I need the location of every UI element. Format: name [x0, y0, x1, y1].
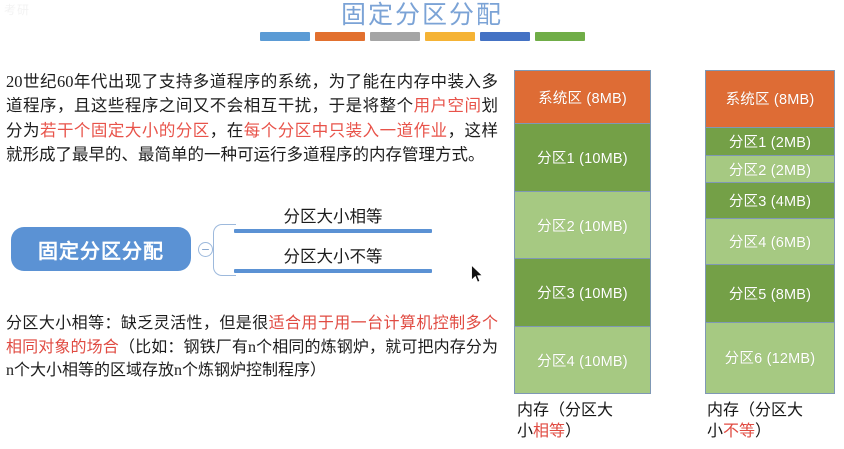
caption-post: ） — [565, 423, 581, 440]
memory-block: 系统区 (8MB) — [706, 71, 834, 128]
caption-pre: 内存（分区大 — [707, 402, 803, 419]
memory-block: 分区3 (4MB) — [706, 183, 834, 219]
intro-highlight-2: 若干个固定大小的分区 — [40, 121, 210, 140]
memory-block: 分区1 (10MB) — [515, 124, 650, 192]
intro-paragraph: 20世纪60年代出现了支持多道程序的系统，为了能在内存中装入多道程序，且这些程序… — [6, 70, 498, 168]
title-decoration-bars — [0, 32, 844, 41]
slide-canvas: 考研 固定分区分配 20世纪60年代出现了支持多道程序的系统，为了能在内存中装入… — [0, 0, 844, 449]
memory-block: 分区4 (10MB) — [515, 327, 650, 393]
mindmap-branch-unequal[interactable]: 分区大小不等 — [234, 246, 432, 273]
title-bar-6 — [535, 32, 585, 41]
minus-circle-icon[interactable] — [198, 242, 213, 257]
mouse-pointer-icon — [470, 264, 484, 284]
memory-caption-equal: 内存（分区大小相等） — [517, 400, 622, 442]
memory-block: 分区4 (6MB) — [706, 219, 834, 265]
mindmap-branch-equal[interactable]: 分区大小相等 — [234, 206, 432, 233]
memory-block: 分区6 (12MB) — [706, 323, 834, 393]
memory-caption-unequal: 内存（分区大小不等） — [707, 400, 812, 442]
page-title: 固定分区分配 — [0, 2, 844, 30]
memory-block: 分区2 (2MB) — [706, 156, 834, 183]
expl-seg-1: 分区大小相等：缺乏灵活性，但是很 — [6, 315, 269, 332]
mindmap-root-node[interactable]: 固定分区分配 — [12, 228, 190, 270]
title-bar-1 — [260, 32, 310, 41]
mindmap-branch-underline — [234, 269, 432, 273]
caption-highlight: 相等 — [533, 423, 565, 440]
caption-pre: 内存（分区大 — [517, 402, 613, 419]
memory-block: 分区2 (10MB) — [515, 192, 650, 260]
memory-block: 分区5 (8MB) — [706, 265, 834, 323]
title-bar-2 — [315, 32, 365, 41]
caption-mid: 小 — [517, 423, 533, 440]
explanation-paragraph: 分区大小相等：缺乏灵活性，但是很适合用于用一台计算机控制多个相同对象的场合（比如… — [6, 312, 498, 383]
mindmap-branch-label: 分区大小相等 — [234, 206, 432, 229]
caption-post: ） — [755, 423, 771, 440]
title-bar-3 — [370, 32, 420, 41]
intro-highlight-1: 用户空间 — [414, 96, 482, 115]
memory-column-unequal: 系统区 (8MB)分区1 (2MB)分区2 (2MB)分区3 (4MB)分区4 … — [705, 70, 835, 394]
memory-block: 分区1 (2MB) — [706, 128, 834, 156]
mindmap-branch-label: 分区大小不等 — [234, 246, 432, 269]
intro-highlight-3: 每个分区中只装入一道作业 — [244, 121, 448, 140]
caption-highlight: 不等 — [723, 423, 755, 440]
intro-seg-3: ，在 — [210, 121, 244, 140]
memory-block: 分区3 (10MB) — [515, 259, 650, 327]
mindmap-branch-underline — [234, 229, 432, 233]
memory-column-equal: 系统区 (8MB)分区1 (10MB)分区2 (10MB)分区3 (10MB)分… — [514, 70, 651, 394]
title-bar-5 — [480, 32, 530, 41]
memory-block: 系统区 (8MB) — [515, 71, 650, 124]
mindmap: 固定分区分配 分区大小相等 分区大小不等 — [12, 206, 432, 286]
mindmap-connector — [213, 224, 236, 276]
caption-mid: 小 — [707, 423, 723, 440]
title-bar-4 — [425, 32, 475, 41]
